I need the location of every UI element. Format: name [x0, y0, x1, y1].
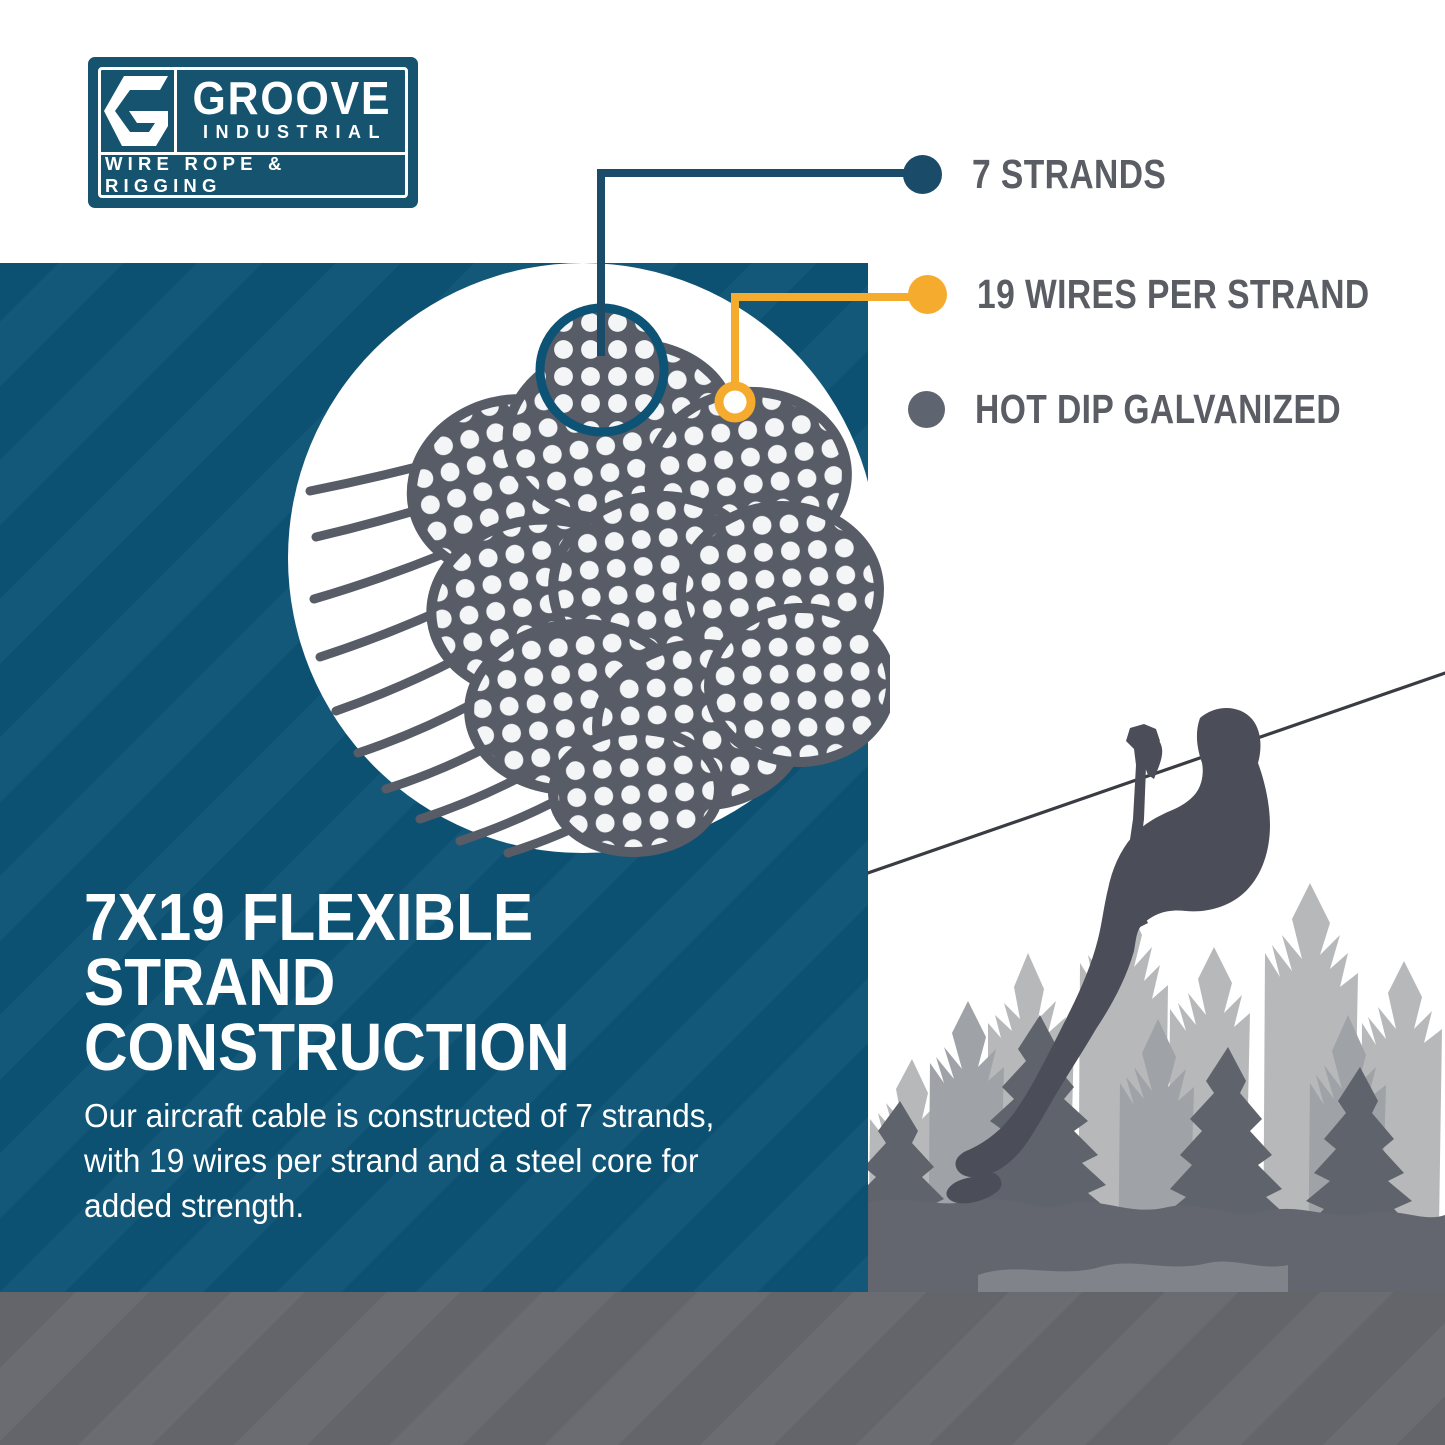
logo-mark-cell: [101, 70, 177, 152]
callout-hot-dip-galvanized[interactable]: HOT DIP GALVANIZED: [908, 386, 1421, 433]
brand-logo[interactable]: GROOVE INDUSTRIAL WIRE ROPE & RIGGING: [88, 57, 418, 208]
logo-wordmark: GROOVE INDUSTRIAL: [177, 70, 405, 152]
logo-frame-inner: GROOVE INDUSTRIAL WIRE ROPE & RIGGING: [98, 67, 408, 198]
logo-tagline: WIRE ROPE & RIGGING: [101, 153, 405, 197]
page-title: 7X19 FLEXIBLE STRAND CONSTRUCTION: [84, 885, 768, 1080]
connector-ring-wires: [719, 386, 751, 418]
callout-label-7-strands: 7 STRANDS: [972, 151, 1166, 198]
logo-brand-name: GROOVE: [193, 77, 392, 119]
callout-dot-gray: [908, 391, 945, 428]
callout-label-19-wires: 19 WIRES PER STRAND: [977, 271, 1370, 318]
logo-tagline-row: WIRE ROPE & RIGGING: [101, 155, 405, 195]
callout-19-wires-per-strand[interactable]: 19 WIRES PER STRAND: [908, 271, 1445, 318]
connector-line-strands: [601, 173, 918, 352]
infographic-canvas: 7 STRANDS 19 WIRES PER STRAND HOT DIP GA…: [0, 0, 1445, 1445]
callout-label-hot-dip: HOT DIP GALVANIZED: [975, 386, 1341, 433]
bottom-bar-stripe-texture: [0, 1292, 1445, 1445]
logo-top-row: GROOVE INDUSTRIAL: [101, 70, 405, 155]
g-hexagon-logo-icon: [102, 74, 174, 148]
logo-brand-sub: INDUSTRIAL: [197, 122, 387, 143]
bottom-gray-bar: [0, 1292, 1445, 1445]
headline-line-2: STRAND CONSTRUCTION: [84, 950, 768, 1080]
body-description: Our aircraft cable is constructed of 7 s…: [84, 1093, 718, 1229]
callout-dot-navy: [903, 155, 942, 194]
logo-frame-outer: GROOVE INDUSTRIAL WIRE ROPE & RIGGING: [88, 57, 418, 208]
callout-dot-orange: [908, 275, 947, 314]
headline-line-1: 7X19 FLEXIBLE: [84, 880, 533, 955]
callout-7-strands[interactable]: 7 STRANDS: [903, 151, 1209, 198]
connector-line-wires: [735, 297, 923, 401]
